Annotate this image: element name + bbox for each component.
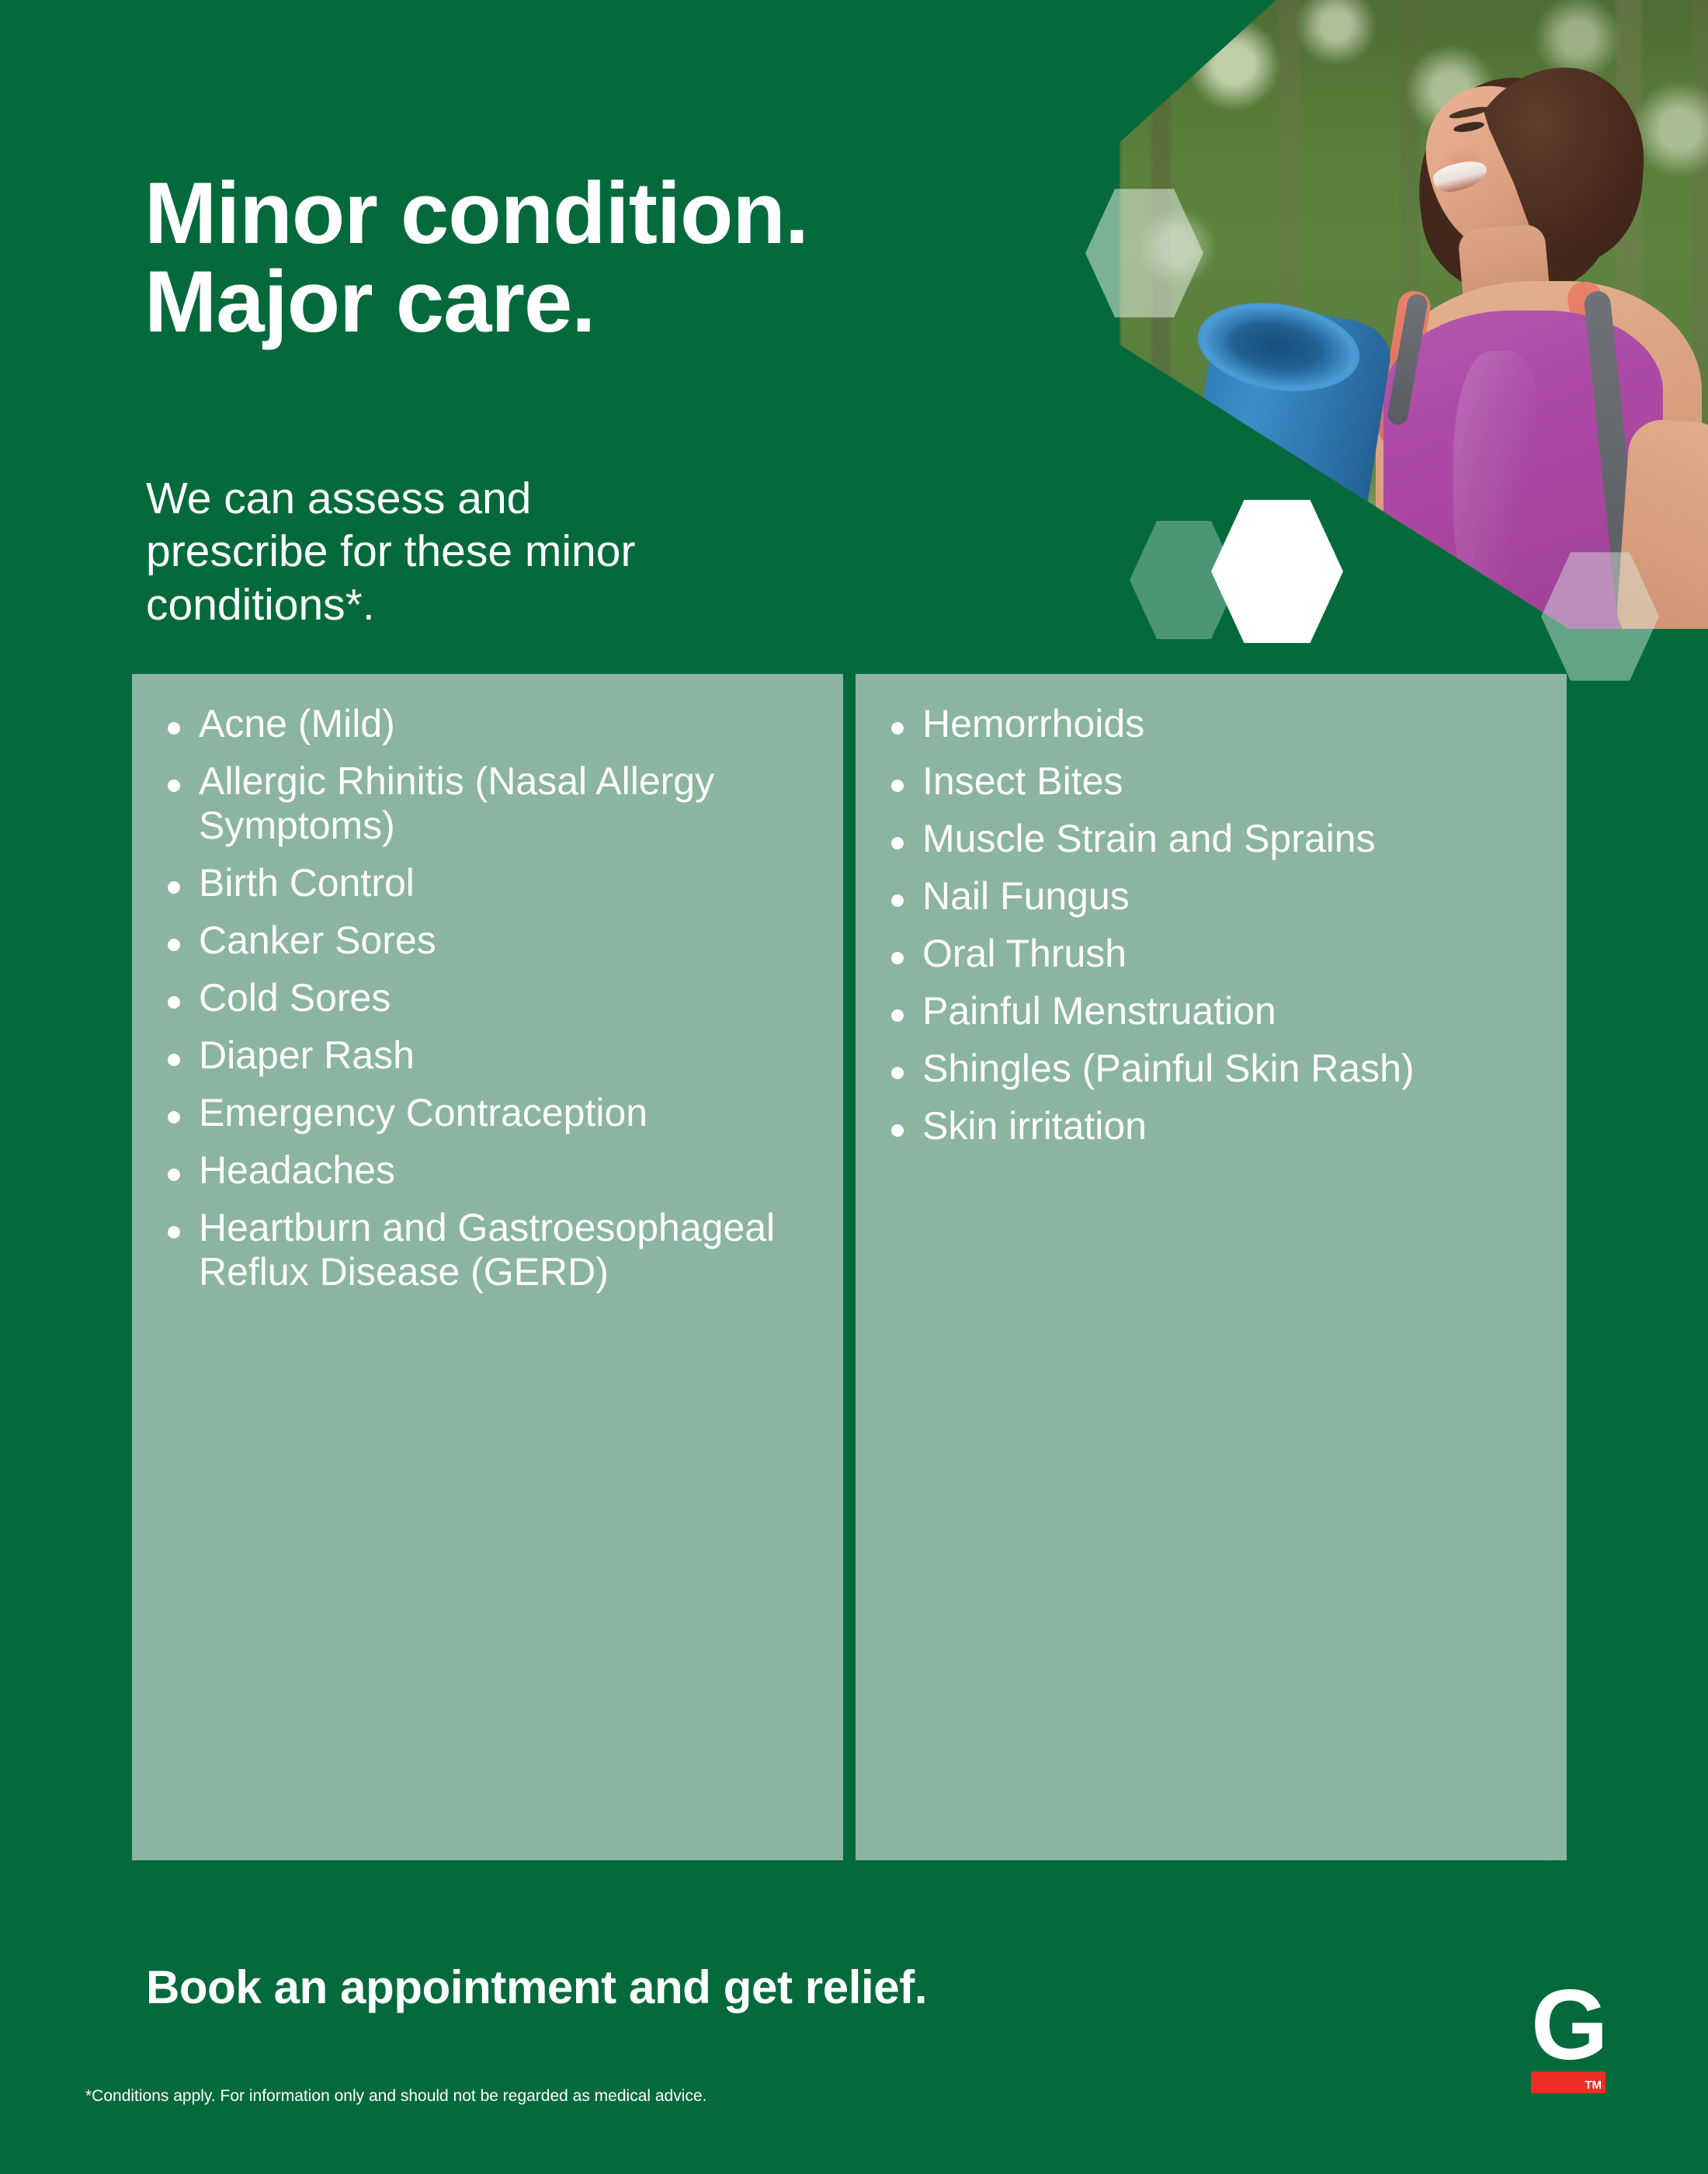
list-item: Acne (Mild) [158, 702, 817, 746]
conditions-list-right: Hemorrhoids Insect Bites Muscle Strain a… [882, 702, 1540, 1148]
bullet-icon [168, 1054, 180, 1066]
brand-logo: G TM [1528, 1985, 1637, 2103]
list-item: Hemorrhoids [882, 702, 1540, 746]
bullet-icon [891, 1124, 904, 1137]
bullet-icon [891, 1009, 904, 1022]
cta-heading: Book an appointment and get relief. [146, 1960, 927, 2014]
list-item: Cold Sores [158, 976, 817, 1020]
headline-line-2: Major care. [144, 258, 808, 346]
list-item: Emergency Contraception [158, 1091, 817, 1135]
list-item: Heartburn and Gastroesophageal Reflux Di… [158, 1206, 817, 1294]
bullet-icon [891, 722, 904, 735]
bullet-icon [891, 1067, 904, 1079]
bullet-icon [891, 894, 904, 907]
bullet-icon [168, 996, 180, 1009]
list-item: Canker Sores [158, 919, 817, 963]
page-title: Minor condition. Major care. [144, 169, 808, 346]
logo-red-bar: TM [1531, 2072, 1606, 2093]
bullet-icon [168, 881, 180, 894]
tank-top-highlight [1453, 351, 1547, 615]
fingernail [1349, 567, 1370, 583]
list-item: Allergic Rhinitis (Nasal Allergy Symptom… [158, 759, 817, 848]
headline-line-1: Minor condition. [144, 169, 808, 258]
list-item: Shingles (Painful Skin Rash) [882, 1047, 1540, 1091]
list-item: Headaches [158, 1148, 817, 1193]
logo-trademark-icon: TM [1585, 2079, 1602, 2091]
list-item: Diaper Rash [158, 1033, 817, 1078]
bullet-icon [168, 780, 180, 792]
disclaimer-text: *Conditions apply. For information only … [85, 2087, 706, 2106]
bullet-icon [891, 837, 904, 849]
bullet-icon [891, 952, 904, 964]
page-subtitle: We can assess and prescribe for these mi… [146, 472, 689, 631]
bullet-icon [168, 1169, 180, 1181]
list-item: Painful Menstruation [882, 989, 1540, 1033]
list-item: Nail Fungus [882, 874, 1540, 919]
bullet-icon [168, 722, 180, 735]
list-item: Skin irritation [882, 1104, 1540, 1148]
conditions-panel-left: Acne (Mild) Allergic Rhinitis (Nasal All… [132, 674, 843, 1860]
logo-letter: G [1528, 1985, 1637, 2067]
conditions-list-left: Acne (Mild) Allergic Rhinitis (Nasal All… [158, 702, 817, 1294]
bullet-icon [168, 939, 180, 951]
bullet-icon [168, 1111, 180, 1123]
list-item: Muscle Strain and Sprains [882, 817, 1540, 861]
list-item: Oral Thrush [882, 932, 1540, 976]
bullet-icon [168, 1226, 180, 1238]
list-item: Insect Bites [882, 759, 1540, 804]
conditions-panel-right: Hemorrhoids Insect Bites Muscle Strain a… [856, 674, 1567, 1860]
list-item: Birth Control [158, 861, 817, 905]
conditions-panels: Acne (Mild) Allergic Rhinitis (Nasal All… [132, 674, 1567, 1860]
bullet-icon [891, 780, 904, 792]
